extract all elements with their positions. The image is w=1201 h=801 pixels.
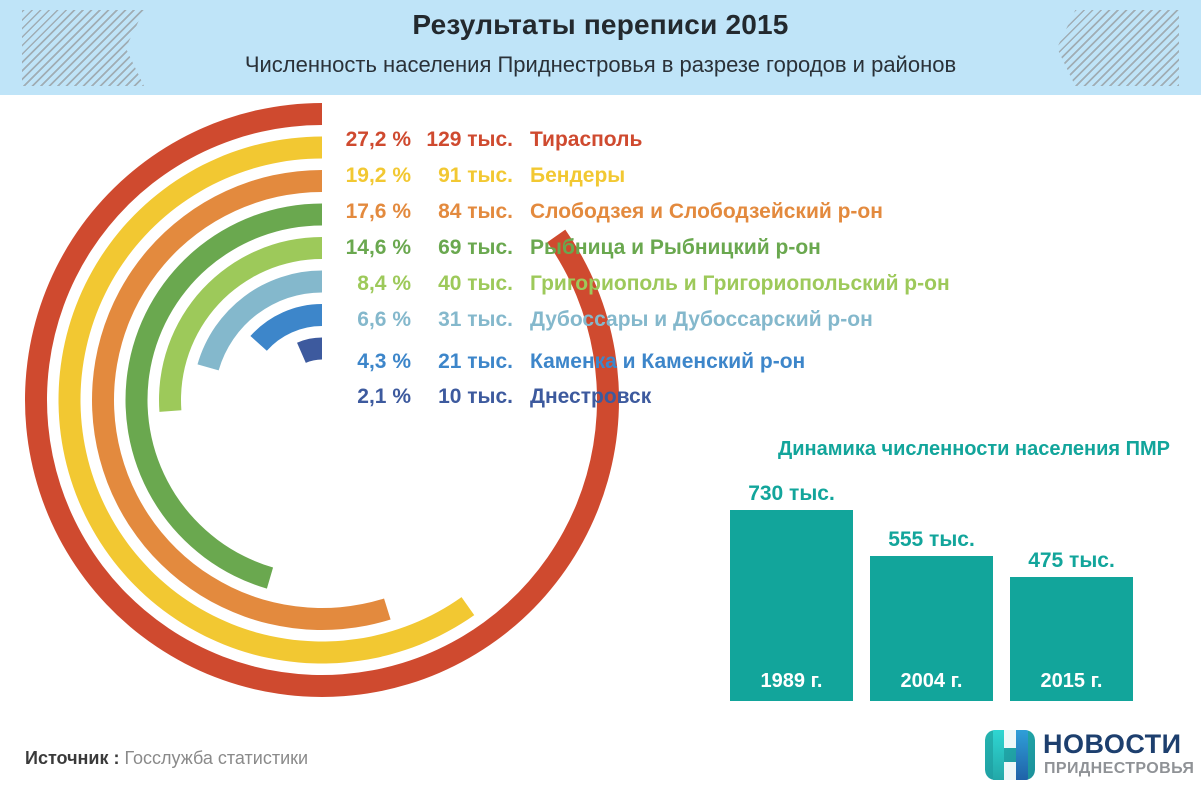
- source-value: Госслужба статистики: [124, 748, 308, 768]
- legend-percent: 14,6 %: [325, 230, 411, 266]
- bar-rect[interactable]: 2015 г.: [1010, 577, 1133, 701]
- legend-label: Днестровск: [530, 379, 651, 415]
- legend-label: Бендеры: [530, 158, 625, 194]
- legend-count: 69 тыс.: [423, 230, 513, 266]
- legend-percent: 17,6 %: [325, 194, 411, 230]
- legend-row[interactable]: 8,4 % 40 тыс. Григориополь и Григориопол…: [325, 266, 1025, 302]
- chart-legend: 27,2 % 129 тыс. Тирасполь 19,2 % 91 тыс.…: [325, 122, 1025, 415]
- radial-bar-segment[interactable]: [297, 338, 322, 363]
- source-line: Источник : Госслужба статистики: [25, 748, 308, 769]
- legend-percent: 8,4 %: [325, 266, 411, 302]
- legend-percent: 6,6 %: [325, 302, 411, 338]
- legend-label: Слободзея и Слободзейский р-он: [530, 194, 883, 230]
- site-logo[interactable]: НОВОСТИ ПРИДНЕСТРОВЬЯ: [985, 728, 1185, 784]
- bar-rect[interactable]: 1989 г.: [730, 510, 853, 701]
- legend-count: 40 тыс.: [423, 266, 513, 302]
- bar-year-label: 2004 г.: [870, 670, 993, 693]
- bar-chart-title: Динамика численности населения ПМР: [690, 438, 1170, 461]
- bar-rect[interactable]: 2004 г.: [870, 556, 993, 701]
- legend-percent: 19,2 %: [325, 158, 411, 194]
- legend-label: Григориополь и Григориопольский р-он: [530, 266, 950, 302]
- logo-text-main: НОВОСТИ: [1043, 729, 1182, 760]
- legend-row[interactable]: 17,6 % 84 тыс. Слободзея и Слободзейский…: [325, 194, 1025, 230]
- page-subtitle: Численность населения Приднестровья в ра…: [0, 52, 1201, 78]
- legend-percent: 27,2 %: [325, 122, 411, 158]
- legend-row[interactable]: 14,6 % 69 тыс. Рыбница и Рыбницкий р-он: [325, 230, 1025, 266]
- legend-count: 91 тыс.: [423, 158, 513, 194]
- bar-value-label: 555 тыс.: [860, 528, 1003, 552]
- legend-count: 10 тыс.: [423, 379, 513, 415]
- legend-row[interactable]: 27,2 % 129 тыс. Тирасполь: [325, 122, 1025, 158]
- legend-count: 84 тыс.: [423, 194, 513, 230]
- logo-mark-svg: [985, 730, 1035, 780]
- legend-row[interactable]: 2,1 % 10 тыс. Днестровск: [325, 379, 1025, 415]
- bar-year-label: 1989 г.: [730, 670, 853, 693]
- page-header: Результаты переписи 2015 Численность нас…: [0, 0, 1201, 95]
- legend-label: Рыбница и Рыбницкий р-он: [530, 230, 821, 266]
- source-label: Источник :: [25, 748, 119, 768]
- page-title: Результаты переписи 2015: [0, 9, 1201, 41]
- legend-label: Дубоссары и Дубоссарский р-он: [530, 302, 873, 338]
- news-square-logo-icon: [985, 730, 1035, 780]
- legend-count: 129 тыс.: [423, 122, 513, 158]
- legend-row[interactable]: 19,2 % 91 тыс. Бендеры: [325, 158, 1025, 194]
- legend-label: Тирасполь: [530, 122, 642, 158]
- legend-percent: 2,1 %: [325, 379, 411, 415]
- logo-text-sub: ПРИДНЕСТРОВЬЯ: [1044, 760, 1194, 778]
- bar-value-label: 730 тыс.: [720, 482, 863, 506]
- legend-count: 31 тыс.: [423, 302, 513, 338]
- legend-row[interactable]: 4,3 % 21 тыс. Каменка и Каменский р-он: [325, 338, 1025, 379]
- bar-year-label: 2015 г.: [1010, 670, 1133, 693]
- legend-row[interactable]: 6,6 % 31 тыс. Дубоссары и Дубоссарский р…: [325, 302, 1025, 338]
- population-dynamics-bar-chart: Динамика численности населения ПМР 730 т…: [690, 430, 1190, 720]
- bar-value-label: 475 тыс.: [1000, 549, 1143, 573]
